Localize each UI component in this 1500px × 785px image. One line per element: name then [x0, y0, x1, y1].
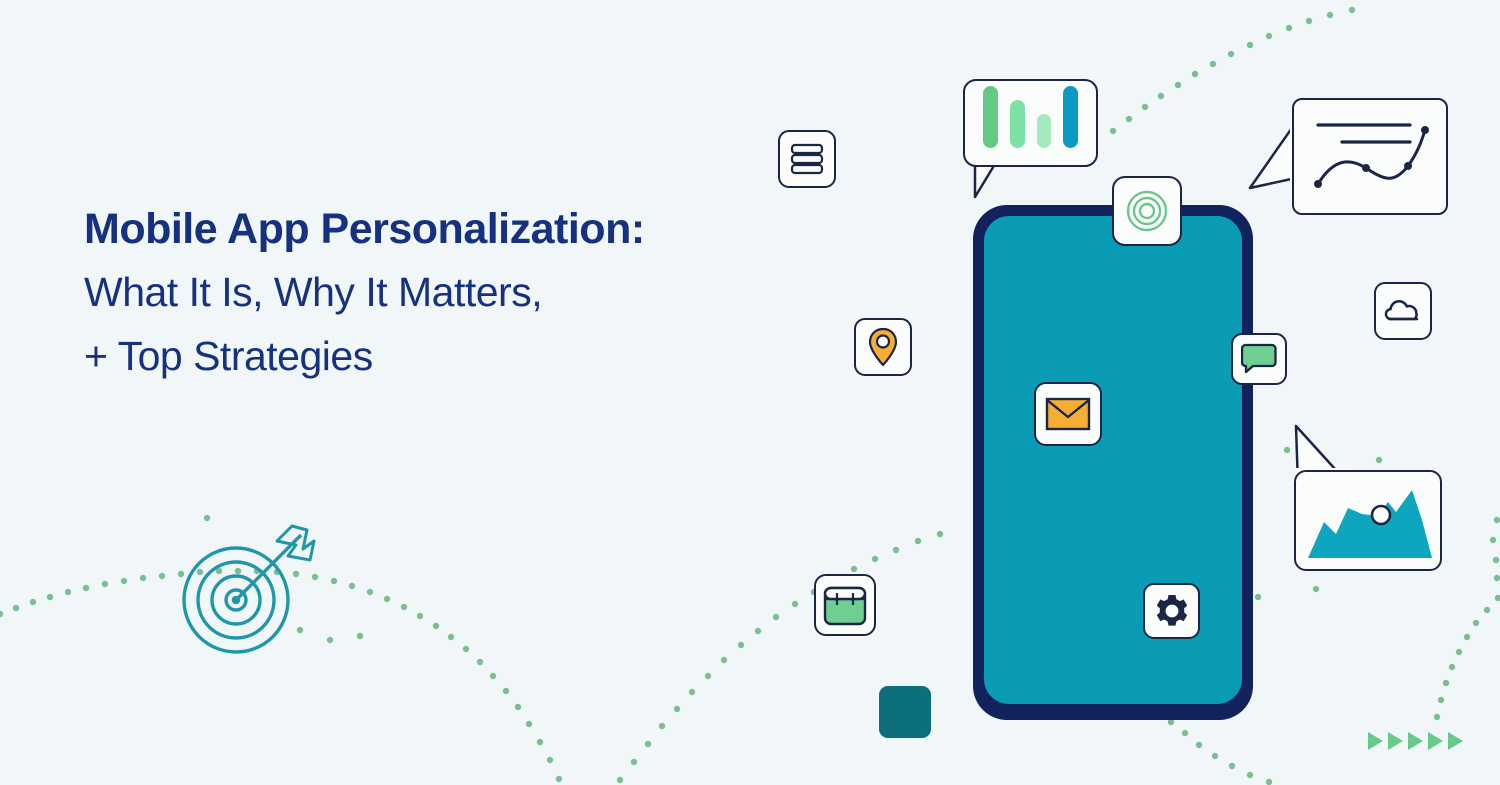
line-chart-bubble — [1292, 98, 1448, 215]
calendar-glyph — [822, 582, 868, 628]
cloud-glyph — [1383, 297, 1423, 325]
concentric-circles-icon[interactable] — [1112, 176, 1182, 246]
teal-square-decor — [879, 686, 931, 738]
bar-1 — [1010, 100, 1025, 148]
phone-screen — [984, 216, 1242, 704]
calendar-icon[interactable] — [814, 574, 876, 636]
area-chart-bubble — [1294, 470, 1442, 571]
dotted-curve-decorations — [0, 0, 1500, 785]
headline-line-3: + Top Strategies — [84, 336, 784, 377]
area-bubble-tail — [0, 0, 1500, 785]
line-bubble-tail — [0, 0, 1500, 785]
target-bullseye-arrow-icon — [0, 0, 1500, 785]
bar-bubble-tail — [0, 0, 1500, 785]
gear-glyph — [1154, 593, 1190, 629]
line-chart — [1294, 100, 1450, 217]
list-icon-glyph — [789, 142, 825, 176]
banner-canvas: Mobile App Personalization: What It Is, … — [0, 0, 1500, 785]
bar-3 — [1063, 86, 1078, 148]
cloud-icon[interactable] — [1374, 282, 1432, 340]
headline-line-1: Mobile App Personalization: — [84, 208, 784, 251]
bar-chart-bubble — [963, 79, 1098, 167]
play-arrow-icon — [1408, 732, 1423, 750]
map-pin-glyph — [868, 327, 898, 367]
play-arrow-icon — [1368, 732, 1383, 750]
page-title: Mobile App Personalization: What It Is, … — [84, 208, 784, 377]
bar-chart — [965, 81, 1096, 165]
play-arrow-icon — [1448, 732, 1463, 750]
envelope-glyph — [1045, 397, 1091, 431]
chat-bubble-glyph — [1241, 342, 1277, 376]
play-arrow-icon — [1428, 732, 1443, 750]
envelope-icon[interactable] — [1034, 382, 1102, 446]
headline-line-2: What It Is, Why It Matters, — [84, 272, 784, 313]
area-chart — [1296, 472, 1444, 573]
play-arrow-icon — [1388, 732, 1403, 750]
chat-bubble-icon[interactable] — [1231, 333, 1287, 385]
play-arrows-decor — [1368, 732, 1463, 750]
map-pin-icon[interactable] — [854, 318, 912, 376]
smartphone-mockup — [973, 205, 1253, 720]
bar-2 — [1037, 114, 1052, 148]
bar-0 — [983, 86, 998, 148]
concentric-circles-glyph — [1124, 188, 1170, 234]
list-icon[interactable] — [778, 130, 836, 188]
gear-icon[interactable] — [1143, 583, 1200, 639]
